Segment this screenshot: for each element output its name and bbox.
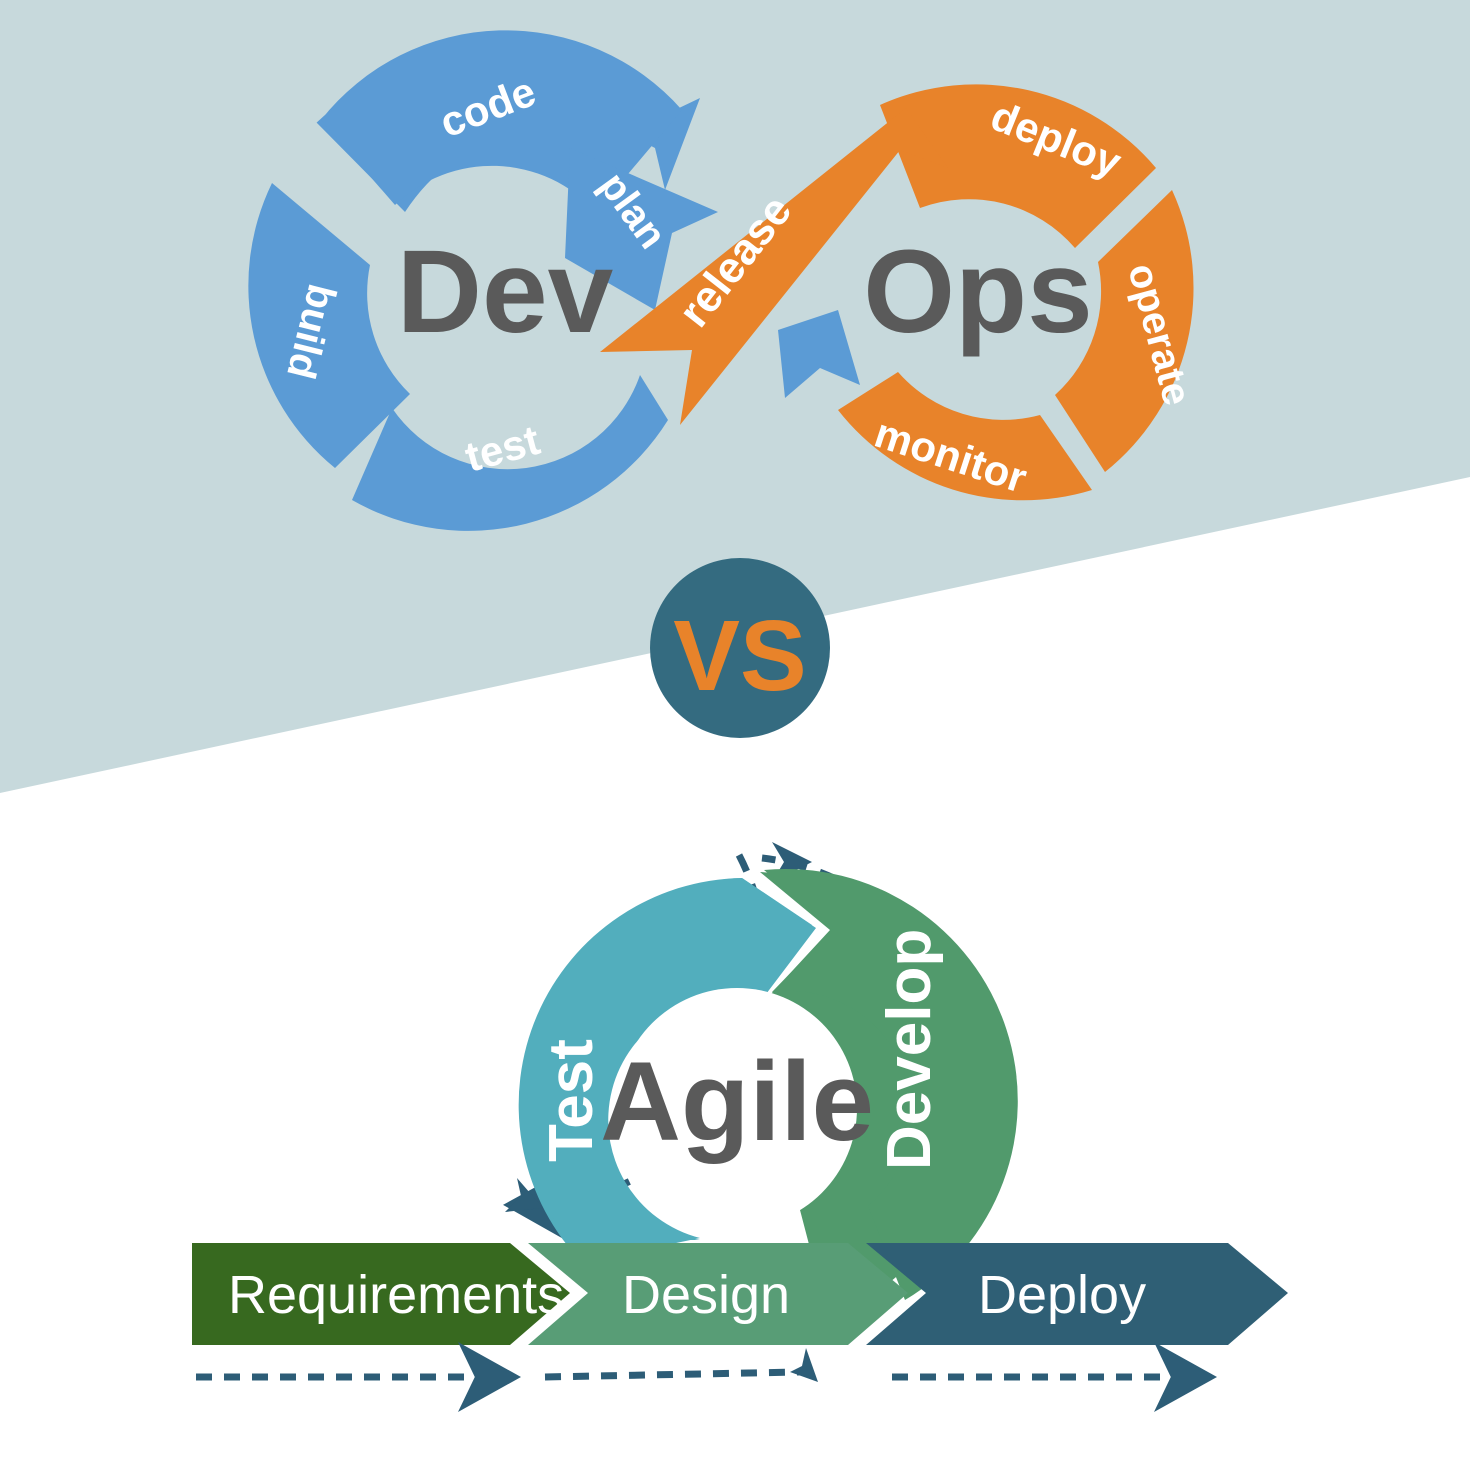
- vs-badge-label: VS: [673, 600, 806, 712]
- agile-stage-test-label: Test: [537, 1039, 606, 1162]
- phase-requirements-label: Requirements: [228, 1265, 564, 1325]
- infographic-canvas: code plan build test Dev deploy operate …: [0, 0, 1470, 1470]
- agile-center-label: Agile: [600, 1039, 874, 1164]
- phase-design-label: Design: [622, 1265, 790, 1325]
- vs-badge: VS: [650, 558, 830, 738]
- devops-vs-agile-infographic: code plan build test Dev deploy operate …: [0, 0, 1470, 1470]
- agile-phase-bar: Requirements Design Deploy: [192, 1243, 1288, 1345]
- ops-center-label: Ops: [863, 226, 1093, 358]
- agile-stage-develop-label: Develop: [875, 929, 944, 1170]
- dev-center-label: Dev: [397, 226, 614, 358]
- phase-deploy-label: Deploy: [978, 1265, 1146, 1325]
